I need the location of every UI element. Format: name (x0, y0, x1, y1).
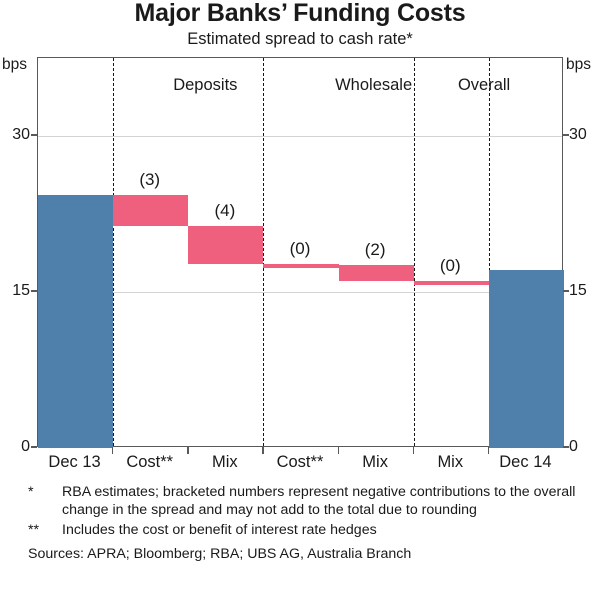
group-header-deposits: Deposits (111, 76, 300, 95)
x-axis-tick-label: Dec 14 (488, 452, 563, 472)
bar-value-label: (0) (413, 257, 488, 275)
footnote-text: RBA estimates; bracketed numbers represe… (62, 484, 578, 519)
total-bar (38, 195, 113, 448)
delta-bar (263, 264, 338, 268)
group-header-overall: Overall (447, 76, 521, 95)
delta-bar (188, 226, 263, 263)
y-axis-tick-label: 30 (0, 127, 30, 143)
group-header-wholesale: Wholesale (300, 76, 447, 95)
x-axis-tick-label: Mix (413, 452, 488, 472)
group-divider (414, 58, 415, 446)
bar-value-label: (3) (112, 171, 187, 189)
y-axis-unit-right: bps (566, 56, 591, 74)
footnote-row: * RBA estimates; bracketed numbers repre… (0, 484, 600, 519)
y-axis-unit-left: bps (2, 56, 27, 74)
bar-value-label: (2) (338, 241, 413, 259)
y-axis-tick-label: 30 (569, 127, 600, 143)
y-axis-tick-mark (31, 446, 37, 447)
x-axis-tick-label: Dec 13 (37, 452, 112, 472)
funding-costs-chart: Major Banks’ Funding Costs Estimated spr… (0, 0, 600, 591)
chart-title: Major Banks’ Funding Costs (0, 0, 600, 28)
delta-bar (339, 265, 414, 281)
gridline (38, 136, 562, 137)
x-axis-tick-label: Cost** (262, 452, 337, 472)
bar-value-label: (4) (187, 202, 262, 220)
x-axis-tick-label: Mix (187, 452, 262, 472)
group-divider (113, 58, 114, 446)
x-axis-tick-label: Cost** (112, 452, 187, 472)
y-axis-tick-mark (563, 446, 569, 447)
bar-value-label: (0) (262, 240, 337, 258)
y-axis-tick-mark (31, 134, 37, 135)
x-axis-tick-label: Mix (338, 452, 413, 472)
y-axis-tick-mark (31, 290, 37, 291)
y-axis-tick-label: 15 (569, 283, 600, 299)
total-bar (489, 270, 564, 448)
delta-bar (113, 195, 188, 226)
footnotes: * RBA estimates; bracketed numbers repre… (0, 484, 600, 563)
gridline (38, 292, 562, 293)
sources-line: Sources: APRA; Bloomberg; RBA; UBS AG, A… (28, 546, 600, 564)
delta-bar (414, 281, 489, 285)
y-axis-tick-label: 0 (569, 439, 600, 455)
chart-subtitle: Estimated spread to cash rate* (0, 29, 600, 49)
y-axis-tick-mark (563, 290, 569, 291)
footnote-marker: * (28, 484, 58, 502)
y-axis-tick-mark (563, 134, 569, 135)
footnote-marker: ** (28, 522, 58, 540)
footnote-text: Includes the cost or benefit of interest… (62, 522, 578, 540)
y-axis-tick-label: 0 (0, 439, 30, 455)
footnote-row: ** Includes the cost or benefit of inter… (0, 522, 600, 540)
y-axis-tick-label: 15 (0, 283, 30, 299)
